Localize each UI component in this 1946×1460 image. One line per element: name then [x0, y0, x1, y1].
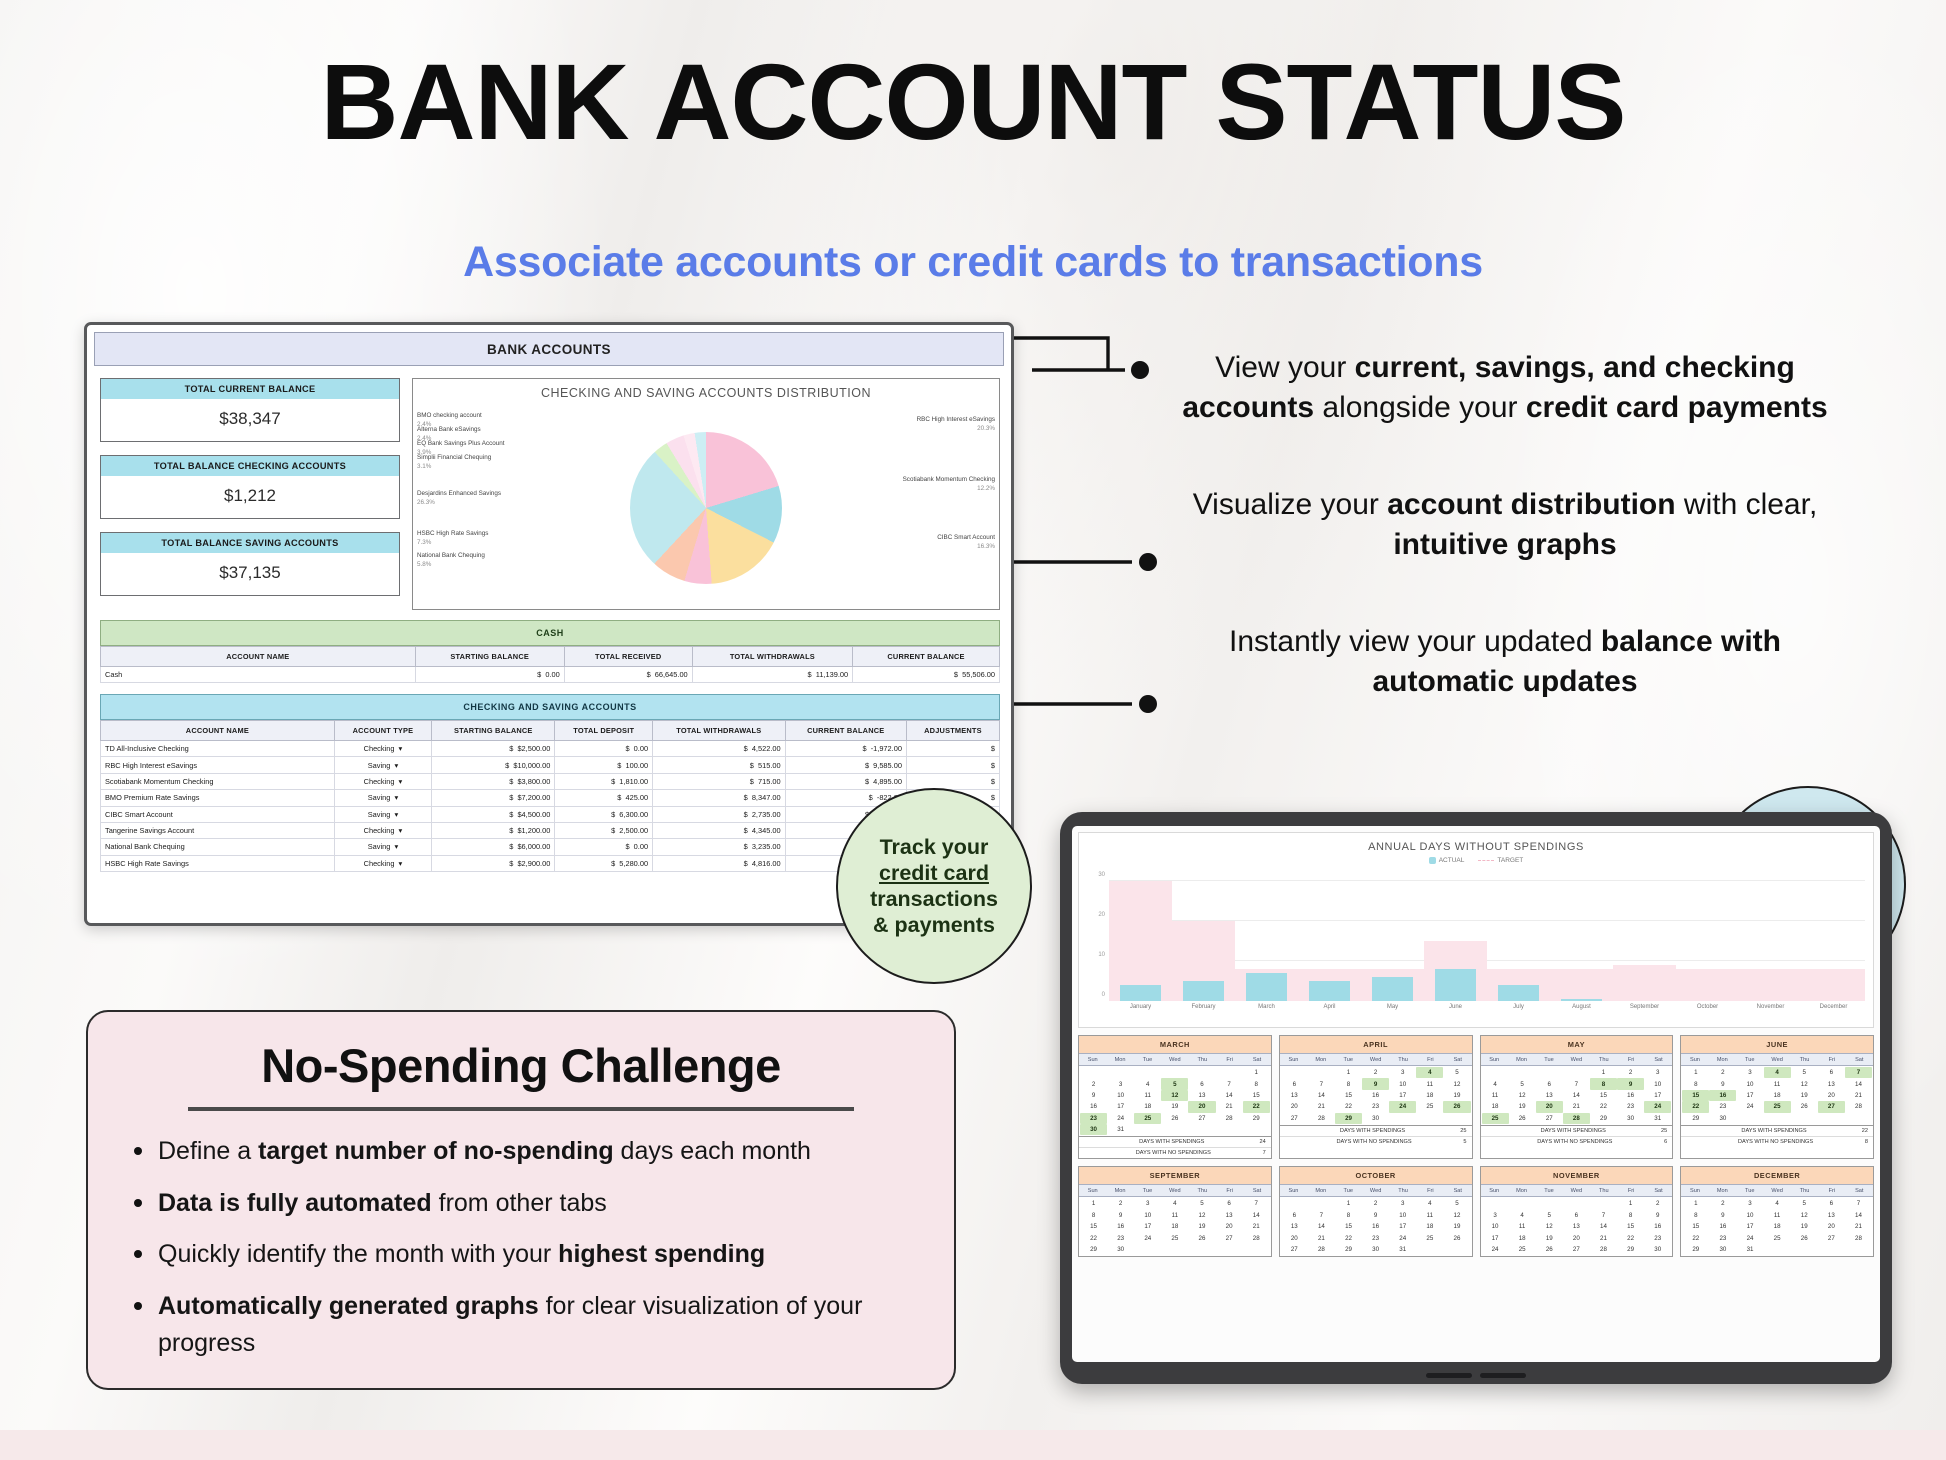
cell-starting[interactable]: $ $7,200.00 [432, 790, 555, 806]
calendar-day[interactable]: 23 [1709, 1101, 1736, 1112]
calendar-day[interactable]: 4 [1134, 1078, 1161, 1089]
cell-starting[interactable]: $ $2,900.00 [432, 855, 555, 871]
calendar-day[interactable]: 29 [1590, 1113, 1617, 1124]
calendar-day[interactable]: 31 [1389, 1244, 1416, 1255]
calendar-day[interactable]: 15 [1080, 1221, 1107, 1232]
accounts-col-header[interactable]: ACCOUNT TYPE [334, 721, 431, 741]
calendar-day[interactable]: 20 [1536, 1101, 1563, 1112]
calendar-day[interactable]: 9 [1362, 1210, 1389, 1221]
cell-account-name[interactable]: CIBC Smart Account [101, 806, 335, 822]
calendar-day[interactable]: 22 [1243, 1101, 1270, 1112]
calendar-day[interactable]: 19 [1791, 1090, 1818, 1101]
calendar-day[interactable]: 6 [1536, 1078, 1563, 1089]
calendar-day[interactable]: 29 [1080, 1244, 1107, 1255]
calendar-day[interactable]: 3 [1644, 1067, 1671, 1078]
calendar-day[interactable]: 13 [1188, 1090, 1215, 1101]
calendar-day[interactable]: 11 [1161, 1210, 1188, 1221]
calendar-day[interactable]: 20 [1216, 1221, 1243, 1232]
calendar-day[interactable]: 20 [1188, 1101, 1215, 1112]
calendar-day[interactable]: 10 [1134, 1210, 1161, 1221]
calendar-day[interactable]: 6 [1216, 1198, 1243, 1209]
calendar-day[interactable]: 3 [1389, 1198, 1416, 1209]
calendar-day[interactable]: 26 [1188, 1232, 1215, 1243]
calendar-day[interactable]: 21 [1563, 1101, 1590, 1112]
accounts-col-header[interactable]: STARTING BALANCE [432, 721, 555, 741]
calendar-month[interactable]: JUNESunMonTueWedThuFriSat123456789101112… [1680, 1035, 1874, 1159]
calendar-day[interactable]: 27 [1563, 1244, 1590, 1255]
cell-account-name[interactable]: TD All-Inclusive Checking [101, 741, 335, 757]
calendar-day[interactable]: 5 [1536, 1210, 1563, 1221]
calendar-day[interactable]: 22 [1335, 1101, 1362, 1112]
calendar-day[interactable]: 29 [1617, 1244, 1644, 1255]
cash-col-header[interactable]: CURRENT BALANCE [853, 647, 1000, 667]
calendar-day[interactable]: 14 [1845, 1210, 1872, 1221]
calendar-day[interactable]: 29 [1335, 1113, 1362, 1124]
accounts-col-header[interactable]: TOTAL WITHDRAWALS [653, 721, 786, 741]
calendar-day[interactable]: 12 [1791, 1078, 1818, 1089]
calendar-day[interactable]: 24 [1107, 1113, 1134, 1124]
calendar-day[interactable]: 20 [1818, 1090, 1845, 1101]
chart-bar[interactable] [1435, 969, 1475, 1001]
cell-deposit[interactable]: $ 0.00 [555, 741, 653, 757]
cell-account-type[interactable]: Checking ▾ [334, 855, 431, 871]
cell-account-type[interactable]: Saving ▾ [334, 757, 431, 773]
calendar-month[interactable]: OCTOBERSunMonTueWedThuFriSat123456789101… [1279, 1166, 1473, 1257]
calendar-day[interactable]: 12 [1536, 1221, 1563, 1232]
calendar-day[interactable]: 9 [1709, 1078, 1736, 1089]
cell-account-type[interactable]: Saving ▾ [334, 790, 431, 806]
calendar-day[interactable]: 28 [1563, 1113, 1590, 1124]
cell-account-type[interactable]: Checking ▾ [334, 773, 431, 789]
calendar-day[interactable]: 7 [1590, 1210, 1617, 1221]
calendar-month[interactable]: DECEMBERSunMonTueWedThuFriSat12345678910… [1680, 1166, 1874, 1257]
calendar-day[interactable]: 3 [1736, 1198, 1763, 1209]
chart-bar[interactable] [1183, 981, 1223, 1001]
cell-withdrawals[interactable]: $ 4,345.00 [653, 822, 786, 838]
calendar-day[interactable]: 27 [1818, 1232, 1845, 1243]
calendar-day[interactable]: 26 [1536, 1244, 1563, 1255]
badge-track-credit-card[interactable]: Track your credit card transactions & pa… [836, 788, 1032, 984]
calendar-day[interactable]: 16 [1617, 1090, 1644, 1101]
cell-withdrawals[interactable]: $ 4,522.00 [653, 741, 786, 757]
kpi-total-balance-saving[interactable]: TOTAL BALANCE SAVING ACCOUNTS $37,135 [100, 532, 400, 596]
calendar-day[interactable]: 7 [1243, 1198, 1270, 1209]
annual-days-chart[interactable]: ANNUAL DAYS WITHOUT SPENDINGS ACTUAL TAR… [1078, 832, 1874, 1028]
calendar-day[interactable]: 15 [1617, 1221, 1644, 1232]
calendar-day[interactable]: 24 [1134, 1232, 1161, 1243]
calendar-day[interactable]: 8 [1080, 1210, 1107, 1221]
accounts-col-header[interactable]: ACCOUNT NAME [101, 721, 335, 741]
cell-deposit[interactable]: $ 1,810.00 [555, 773, 653, 789]
calendar-day[interactable]: 12 [1443, 1078, 1470, 1089]
calendar-day[interactable]: 29 [1682, 1113, 1709, 1124]
calendar-day[interactable]: 31 [1736, 1244, 1763, 1255]
cell-account-name[interactable]: RBC High Interest eSavings [101, 757, 335, 773]
calendar-day[interactable]: 19 [1509, 1101, 1536, 1112]
calendar-day[interactable]: 23 [1107, 1232, 1134, 1243]
calendar-day[interactable]: 18 [1764, 1221, 1791, 1232]
cell-account-name[interactable]: HSBC High Rate Savings [101, 855, 335, 871]
cell-withdrawals[interactable]: $ 2,735.00 [653, 806, 786, 822]
calendar-day[interactable]: 26 [1791, 1232, 1818, 1243]
calendar-day[interactable]: 21 [1308, 1101, 1335, 1112]
calendar-day[interactable]: 19 [1536, 1232, 1563, 1243]
calendar-day[interactable]: 28 [1845, 1232, 1872, 1243]
calendar-day[interactable]: 10 [1389, 1210, 1416, 1221]
calendar-day[interactable]: 10 [1107, 1090, 1134, 1101]
cell-withdrawals[interactable]: $ 715.00 [653, 773, 786, 789]
cell-withdrawals[interactable]: $ 4,816.00 [653, 855, 786, 871]
pie-chart-panel[interactable]: CHECKING AND SAVING ACCOUNTS DISTRIBUTIO… [412, 378, 1000, 610]
calendar-day[interactable]: 22 [1617, 1232, 1644, 1243]
calendar-day[interactable]: 5 [1161, 1078, 1188, 1089]
calendar-day[interactable]: 23 [1617, 1101, 1644, 1112]
calendar-day[interactable]: 1 [1682, 1198, 1709, 1209]
cell-account-type[interactable]: Checking ▾ [334, 822, 431, 838]
cell-account-type[interactable]: Saving ▾ [334, 806, 431, 822]
calendar-day[interactable]: 2 [1617, 1067, 1644, 1078]
calendar-month[interactable]: MAYSunMonTueWedThuFriSat1234567891011121… [1480, 1035, 1674, 1159]
cell-starting[interactable]: $ $3,800.00 [432, 773, 555, 789]
calendar-day[interactable]: 13 [1281, 1221, 1308, 1232]
calendar-day[interactable]: 17 [1482, 1232, 1509, 1243]
calendar-month[interactable]: MARCHSunMonTueWedThuFriSat12345678910111… [1078, 1035, 1272, 1159]
calendar-day[interactable]: 9 [1709, 1210, 1736, 1221]
cash-col-header[interactable]: TOTAL RECEIVED [564, 647, 692, 667]
calendar-day[interactable]: 8 [1335, 1210, 1362, 1221]
cell-starting[interactable]: $ $10,000.00 [432, 757, 555, 773]
calendar-day[interactable]: 4 [1416, 1198, 1443, 1209]
calendar-day[interactable]: 4 [1764, 1067, 1791, 1078]
calendar-day[interactable]: 7 [1563, 1078, 1590, 1089]
calendar-day[interactable]: 6 [1818, 1067, 1845, 1078]
calendar-day[interactable]: 25 [1416, 1232, 1443, 1243]
calendar-day[interactable]: 22 [1080, 1232, 1107, 1243]
cash-table[interactable]: ACCOUNT NAMESTARTING BALANCETOTAL RECEIV… [100, 646, 1000, 683]
tablet-screen[interactable]: ANNUAL DAYS WITHOUT SPENDINGS ACTUAL TAR… [1072, 826, 1880, 1362]
calendar-day[interactable]: 12 [1791, 1210, 1818, 1221]
calendar-day[interactable]: 27 [1281, 1113, 1308, 1124]
calendar-day[interactable]: 28 [1243, 1232, 1270, 1243]
calendar-day[interactable]: 12 [1161, 1090, 1188, 1101]
calendar-day[interactable]: 24 [1389, 1101, 1416, 1112]
calendar-day[interactable]: 14 [1216, 1090, 1243, 1101]
cell-received[interactable]: $ 66,645.00 [564, 667, 692, 683]
calendar-day[interactable]: 4 [1416, 1067, 1443, 1078]
calendar-day[interactable]: 30 [1362, 1113, 1389, 1124]
calendar-day[interactable]: 13 [1281, 1090, 1308, 1101]
kpi-total-balance-checking[interactable]: TOTAL BALANCE CHECKING ACCOUNTS $1,212 [100, 455, 400, 519]
calendar-day[interactable]: 12 [1188, 1210, 1215, 1221]
cell-deposit[interactable]: $ 6,300.00 [555, 806, 653, 822]
calendar-day[interactable]: 20 [1818, 1221, 1845, 1232]
cell-deposit[interactable]: $ 100.00 [555, 757, 653, 773]
calendar-day[interactable]: 26 [1161, 1113, 1188, 1124]
cell-account-name[interactable]: Scotiabank Momentum Checking [101, 773, 335, 789]
calendar-day[interactable]: 22 [1682, 1232, 1709, 1243]
calendar-day[interactable]: 13 [1536, 1090, 1563, 1101]
accounts-col-header[interactable]: TOTAL DEPOSIT [555, 721, 653, 741]
calendar-day[interactable]: 24 [1644, 1101, 1671, 1112]
calendar-day[interactable]: 19 [1443, 1221, 1470, 1232]
calendar-day[interactable]: 30 [1709, 1244, 1736, 1255]
chart-bar[interactable] [1561, 999, 1601, 1001]
calendar-day[interactable]: 13 [1216, 1210, 1243, 1221]
calendar-day[interactable]: 28 [1308, 1113, 1335, 1124]
cell-account-name[interactable]: BMO Premium Rate Savings [101, 790, 335, 806]
calendar-day[interactable]: 15 [1682, 1221, 1709, 1232]
calendar-day[interactable]: 18 [1509, 1232, 1536, 1243]
calendar-day[interactable]: 20 [1281, 1232, 1308, 1243]
cell-account-name[interactable]: Tangerine Savings Account [101, 822, 335, 838]
calendar-day[interactable]: 28 [1845, 1101, 1872, 1112]
calendar-day[interactable]: 15 [1590, 1090, 1617, 1101]
calendar-day[interactable]: 24 [1736, 1232, 1763, 1243]
calendar-day[interactable]: 2 [1709, 1198, 1736, 1209]
calendar-day[interactable]: 20 [1281, 1101, 1308, 1112]
calendar-day[interactable]: 1 [1335, 1198, 1362, 1209]
calendar-day[interactable]: 11 [1416, 1210, 1443, 1221]
calendar-day[interactable]: 19 [1161, 1101, 1188, 1112]
calendar-day[interactable]: 2 [1107, 1198, 1134, 1209]
calendar-day[interactable]: 1 [1590, 1067, 1617, 1078]
calendar-day[interactable]: 17 [1134, 1221, 1161, 1232]
calendar-day[interactable]: 8 [1682, 1078, 1709, 1089]
cell-withdrawals[interactable]: $ 11,139.00 [692, 667, 852, 683]
calendar-day[interactable]: 23 [1080, 1113, 1107, 1124]
calendar-day[interactable]: 17 [1389, 1090, 1416, 1101]
calendar-day[interactable]: 19 [1188, 1221, 1215, 1232]
calendar-day[interactable]: 18 [1416, 1221, 1443, 1232]
table-row[interactable]: TD All-Inclusive CheckingChecking ▾$ $2,… [101, 741, 1000, 757]
calendar-day[interactable]: 14 [1308, 1090, 1335, 1101]
calendar-day[interactable]: 5 [1791, 1198, 1818, 1209]
calendar-day[interactable]: 23 [1709, 1232, 1736, 1243]
calendar-day[interactable]: 10 [1644, 1078, 1671, 1089]
calendar-day[interactable]: 19 [1443, 1090, 1470, 1101]
calendar-day[interactable]: 21 [1845, 1090, 1872, 1101]
calendar-day[interactable]: 12 [1509, 1090, 1536, 1101]
cell-adjustments[interactable]: $ [906, 773, 999, 789]
calendar-day[interactable]: 19 [1791, 1221, 1818, 1232]
calendar-day[interactable]: 1 [1243, 1067, 1270, 1078]
cell-starting[interactable]: $ $4,500.00 [432, 806, 555, 822]
calendar-day[interactable]: 7 [1216, 1078, 1243, 1089]
calendar-day[interactable]: 8 [1590, 1078, 1617, 1089]
kpi-total-current-balance[interactable]: TOTAL CURRENT BALANCE $38,347 [100, 378, 400, 442]
calendar-day[interactable]: 25 [1764, 1232, 1791, 1243]
calendar-month[interactable]: APRILSunMonTueWedThuFriSat12345678910111… [1279, 1035, 1473, 1159]
cell-current[interactable]: $ 4,895.00 [785, 773, 906, 789]
calendar-day[interactable]: 21 [1243, 1221, 1270, 1232]
calendar-day[interactable]: 10 [1736, 1210, 1763, 1221]
calendar-day[interactable]: 26 [1791, 1101, 1818, 1112]
calendar-day[interactable]: 25 [1416, 1101, 1443, 1112]
calendar-day[interactable]: 8 [1243, 1078, 1270, 1089]
calendar-day[interactable]: 30 [1107, 1244, 1134, 1255]
calendar-day[interactable]: 6 [1281, 1210, 1308, 1221]
calendar-day[interactable]: 10 [1736, 1078, 1763, 1089]
calendar-day[interactable]: 1 [1617, 1198, 1644, 1209]
calendar-day[interactable]: 17 [1644, 1090, 1671, 1101]
calendar-day[interactable]: 17 [1736, 1090, 1763, 1101]
cell-deposit[interactable]: $ 5,280.00 [555, 855, 653, 871]
calendar-day[interactable]: 3 [1482, 1210, 1509, 1221]
calendar-day[interactable]: 7 [1845, 1198, 1872, 1209]
calendar-day[interactable]: 30 [1644, 1244, 1671, 1255]
calendar-day[interactable]: 30 [1617, 1113, 1644, 1124]
cell-deposit[interactable]: $ 2,500.00 [555, 822, 653, 838]
calendar-day[interactable]: 3 [1736, 1067, 1763, 1078]
calendar-day[interactable]: 14 [1243, 1210, 1270, 1221]
calendar-day[interactable]: 15 [1335, 1090, 1362, 1101]
calendar-day[interactable]: 12 [1443, 1210, 1470, 1221]
chart-bar[interactable] [1498, 985, 1538, 1001]
calendar-day[interactable]: 4 [1509, 1210, 1536, 1221]
calendar-day[interactable]: 11 [1509, 1221, 1536, 1232]
calendar-day[interactable]: 21 [1216, 1101, 1243, 1112]
calendar-day[interactable]: 8 [1335, 1078, 1362, 1089]
calendar-day[interactable]: 18 [1134, 1101, 1161, 1112]
calendar-day[interactable]: 11 [1764, 1078, 1791, 1089]
calendar-day[interactable]: 5 [1509, 1078, 1536, 1089]
calendar-day[interactable]: 21 [1590, 1232, 1617, 1243]
calendar-day[interactable]: 17 [1736, 1221, 1763, 1232]
calendar-day[interactable]: 11 [1482, 1090, 1509, 1101]
calendar-day[interactable]: 28 [1590, 1244, 1617, 1255]
cell-withdrawals[interactable]: $ 515.00 [653, 757, 786, 773]
calendar-day[interactable]: 29 [1243, 1113, 1270, 1124]
table-row[interactable]: Cash$ 0.00$ 66,645.00$ 11,139.00$ 55,506… [101, 667, 1000, 683]
calendar-day[interactable]: 26 [1509, 1113, 1536, 1124]
calendar-day[interactable]: 22 [1682, 1101, 1709, 1112]
calendar-day[interactable]: 18 [1482, 1101, 1509, 1112]
calendar-day[interactable]: 14 [1845, 1078, 1872, 1089]
calendar-day[interactable]: 5 [1188, 1198, 1215, 1209]
calendar-day[interactable]: 27 [1188, 1113, 1215, 1124]
calendar-day[interactable]: 9 [1107, 1210, 1134, 1221]
calendar-day[interactable]: 17 [1107, 1101, 1134, 1112]
chart-bar[interactable] [1120, 985, 1160, 1001]
calendar-day[interactable]: 2 [1644, 1198, 1671, 1209]
cell-starting[interactable]: $ $6,000.00 [432, 839, 555, 855]
calendar-day[interactable]: 9 [1644, 1210, 1671, 1221]
calendar-day[interactable]: 31 [1107, 1124, 1134, 1135]
calendar-day[interactable]: 31 [1644, 1113, 1671, 1124]
calendar-day[interactable]: 13 [1818, 1210, 1845, 1221]
calendar-day[interactable]: 7 [1308, 1078, 1335, 1089]
calendar-day[interactable]: 16 [1362, 1090, 1389, 1101]
calendar-day[interactable]: 1 [1335, 1067, 1362, 1078]
calendar-day[interactable]: 10 [1482, 1221, 1509, 1232]
calendar-day[interactable]: 27 [1536, 1113, 1563, 1124]
calendar-day[interactable]: 24 [1482, 1244, 1509, 1255]
calendar-day[interactable]: 9 [1080, 1090, 1107, 1101]
chart-bar[interactable] [1246, 973, 1286, 1001]
calendar-day[interactable]: 16 [1362, 1221, 1389, 1232]
calendar-day[interactable]: 11 [1416, 1078, 1443, 1089]
cell-current[interactable]: $ 55,506.00 [853, 667, 1000, 683]
accounts-col-header[interactable]: ADJUSTMENTS [906, 721, 999, 741]
cell-withdrawals[interactable]: $ 8,347.00 [653, 790, 786, 806]
calendar-day[interactable]: 26 [1443, 1232, 1470, 1243]
calendar-day[interactable]: 17 [1389, 1221, 1416, 1232]
calendar-day[interactable]: 11 [1134, 1090, 1161, 1101]
calendar-day[interactable]: 13 [1563, 1221, 1590, 1232]
calendar-day[interactable]: 14 [1563, 1090, 1590, 1101]
calendar-day[interactable]: 27 [1818, 1101, 1845, 1112]
cell-deposit[interactable]: $ 0.00 [555, 839, 653, 855]
table-row[interactable]: RBC High Interest eSavingsSaving ▾$ $10,… [101, 757, 1000, 773]
calendar-day[interactable]: 20 [1563, 1232, 1590, 1243]
calendar-day[interactable]: 23 [1362, 1101, 1389, 1112]
calendar-day[interactable]: 3 [1134, 1198, 1161, 1209]
calendar-day[interactable]: 4 [1764, 1198, 1791, 1209]
calendar-day[interactable]: 1 [1682, 1067, 1709, 1078]
calendar-day[interactable]: 1 [1080, 1198, 1107, 1209]
calendar-day[interactable]: 6 [1818, 1198, 1845, 1209]
calendar-day[interactable]: 15 [1335, 1221, 1362, 1232]
table-row[interactable]: Scotiabank Momentum CheckingChecking ▾$ … [101, 773, 1000, 789]
cell-withdrawals[interactable]: $ 3,235.00 [653, 839, 786, 855]
calendar-day[interactable]: 25 [1764, 1101, 1791, 1112]
calendar-day[interactable]: 30 [1362, 1244, 1389, 1255]
calendar-day[interactable]: 4 [1482, 1078, 1509, 1089]
calendar-day[interactable]: 6 [1281, 1078, 1308, 1089]
calendar-day[interactable]: 22 [1590, 1101, 1617, 1112]
calendar-day[interactable]: 28 [1308, 1244, 1335, 1255]
calendar-day[interactable]: 29 [1335, 1244, 1362, 1255]
calendar-day[interactable]: 16 [1644, 1221, 1671, 1232]
calendar-day[interactable]: 7 [1308, 1210, 1335, 1221]
calendar-day[interactable]: 23 [1362, 1232, 1389, 1243]
calendar-day[interactable]: 3 [1389, 1067, 1416, 1078]
calendar-day[interactable]: 30 [1709, 1113, 1736, 1124]
calendar-day[interactable]: 18 [1416, 1090, 1443, 1101]
cell-account-name[interactable]: National Bank Chequing [101, 839, 335, 855]
cell-account-name[interactable]: Cash [101, 667, 416, 683]
calendar-day[interactable]: 30 [1080, 1124, 1107, 1135]
calendar-day[interactable]: 7 [1845, 1067, 1872, 1078]
table-row[interactable]: BMO Premium Rate SavingsSaving ▾$ $7,200… [101, 790, 1000, 806]
calendar-day[interactable]: 29 [1682, 1244, 1709, 1255]
calendar-day[interactable]: 25 [1482, 1113, 1509, 1124]
calendar-grid[interactable]: MARCHSunMonTueWedThuFriSat12345678910111… [1078, 1035, 1874, 1257]
calendar-month[interactable]: NOVEMBERSunMonTueWedThuFriSat12345678910… [1480, 1166, 1674, 1257]
calendar-day[interactable]: 25 [1161, 1232, 1188, 1243]
calendar-day[interactable]: 16 [1709, 1221, 1736, 1232]
calendar-day[interactable]: 13 [1818, 1078, 1845, 1089]
accounts-col-header[interactable]: CURRENT BALANCE [785, 721, 906, 741]
calendar-day[interactable]: 24 [1389, 1232, 1416, 1243]
calendar-day[interactable]: 27 [1216, 1232, 1243, 1243]
calendar-day[interactable]: 25 [1134, 1113, 1161, 1124]
cell-adjustments[interactable]: $ [906, 757, 999, 773]
cell-deposit[interactable]: $ 425.00 [555, 790, 653, 806]
calendar-day[interactable]: 5 [1791, 1067, 1818, 1078]
calendar-day[interactable]: 21 [1845, 1221, 1872, 1232]
calendar-month[interactable]: SEPTEMBERSunMonTueWedThuFriSat1234567891… [1078, 1166, 1272, 1257]
calendar-day[interactable]: 5 [1443, 1198, 1470, 1209]
calendar-day[interactable]: 9 [1362, 1078, 1389, 1089]
calendar-day[interactable]: 2 [1709, 1067, 1736, 1078]
calendar-day[interactable]: 26 [1443, 1101, 1470, 1112]
chart-bar[interactable] [1309, 981, 1349, 1001]
calendar-day[interactable]: 10 [1389, 1078, 1416, 1089]
calendar-day[interactable]: 8 [1682, 1210, 1709, 1221]
calendar-day[interactable]: 22 [1335, 1232, 1362, 1243]
calendar-day[interactable]: 25 [1509, 1244, 1536, 1255]
